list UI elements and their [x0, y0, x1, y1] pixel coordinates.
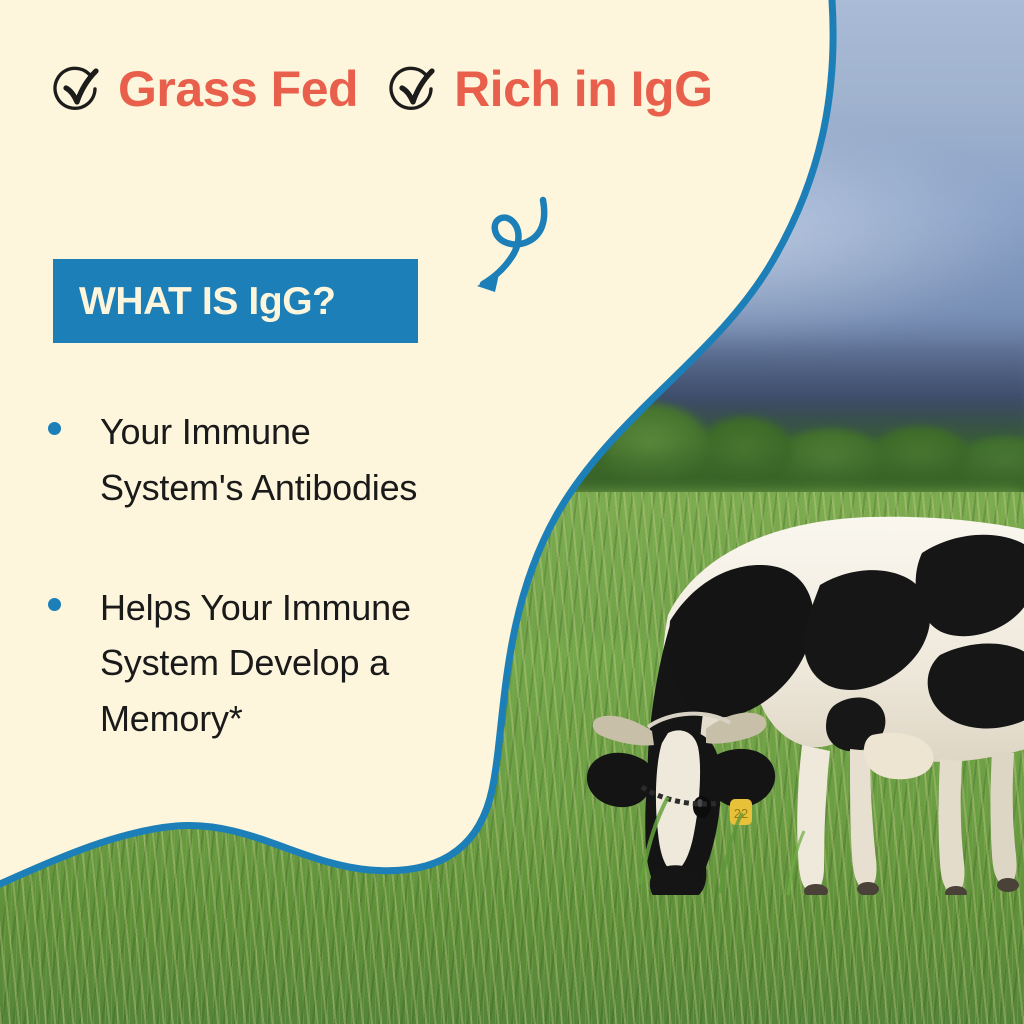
- content-layer: Grass Fed Rich in IgG WHAT IS IgG?: [0, 0, 1024, 1024]
- bullet-line: System Develop a: [100, 642, 389, 683]
- infographic-canvas: 22: [0, 0, 1024, 1024]
- check-circle-icon: [388, 64, 438, 114]
- bullet-line: Memory*: [100, 698, 243, 739]
- bullet-line: Helps Your Immune: [100, 587, 411, 628]
- list-item: Your Immune System's Antibodies: [48, 404, 488, 516]
- claims-row: Grass Fed Rich in IgG: [52, 64, 712, 114]
- claim-rich-in-igg: Rich in IgG: [388, 64, 712, 114]
- bullet-text: Helps Your Immune System Develop a Memor…: [100, 580, 411, 747]
- what-is-igg-banner: WHAT IS IgG?: [53, 259, 418, 343]
- check-circle-icon: [52, 64, 102, 114]
- claim-grass-fed: Grass Fed: [52, 64, 358, 114]
- igg-bullet-list: Your Immune System's Antibodies Helps Yo…: [48, 404, 488, 811]
- list-item: Helps Your Immune System Develop a Memor…: [48, 580, 488, 747]
- bullet-text: Your Immune System's Antibodies: [100, 404, 417, 516]
- bullet-dot-icon: [48, 422, 61, 435]
- claim-label: Rich in IgG: [454, 64, 712, 114]
- banner-title: WHAT IS IgG?: [53, 282, 336, 321]
- bullet-line: System's Antibodies: [100, 467, 417, 508]
- bullet-dot-icon: [48, 598, 61, 611]
- claim-label: Grass Fed: [118, 64, 358, 114]
- curly-arrow-icon: [455, 192, 565, 302]
- bullet-line: Your Immune: [100, 411, 311, 452]
